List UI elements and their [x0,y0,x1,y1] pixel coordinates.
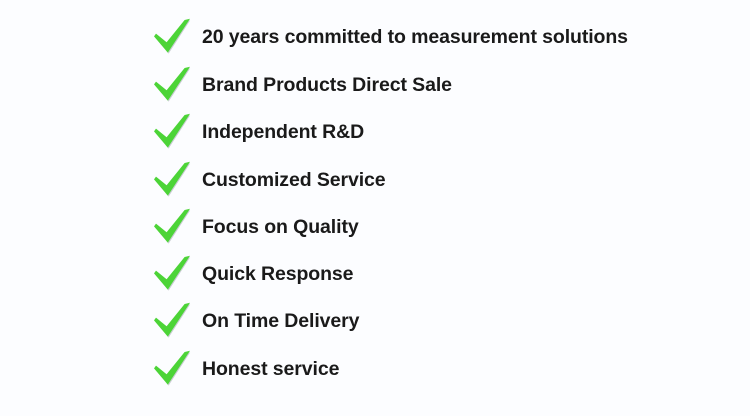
check-mark-icon [152,302,194,342]
feature-label: Brand Products Direct Sale [202,76,452,97]
feature-item: 20 years committed to measurement soluti… [152,18,628,58]
check-mark-icon [152,113,194,153]
check-mark-icon [152,208,194,248]
feature-label: 20 years committed to measurement soluti… [202,28,628,49]
check-mark-icon [152,350,194,390]
feature-label: Honest service [202,360,339,381]
feature-item: On Time Delivery [152,302,359,342]
feature-label: Independent R&D [202,123,364,144]
feature-item: Brand Products Direct Sale [152,66,452,106]
feature-label: Focus on Quality [202,218,359,239]
feature-item: Independent R&D [152,113,364,153]
feature-item: Quick Response [152,255,353,295]
check-mark-icon [152,255,194,295]
check-mark-icon [152,161,194,201]
check-mark-icon [152,18,194,58]
feature-item: Customized Service [152,161,386,201]
feature-label: Customized Service [202,171,386,192]
feature-label: On Time Delivery [202,312,359,333]
feature-item: Focus on Quality [152,208,359,248]
feature-label: Quick Response [202,265,353,286]
feature-item: Honest service [152,350,339,390]
check-mark-icon [152,66,194,106]
feature-list: 20 years committed to measurement soluti… [0,0,750,416]
